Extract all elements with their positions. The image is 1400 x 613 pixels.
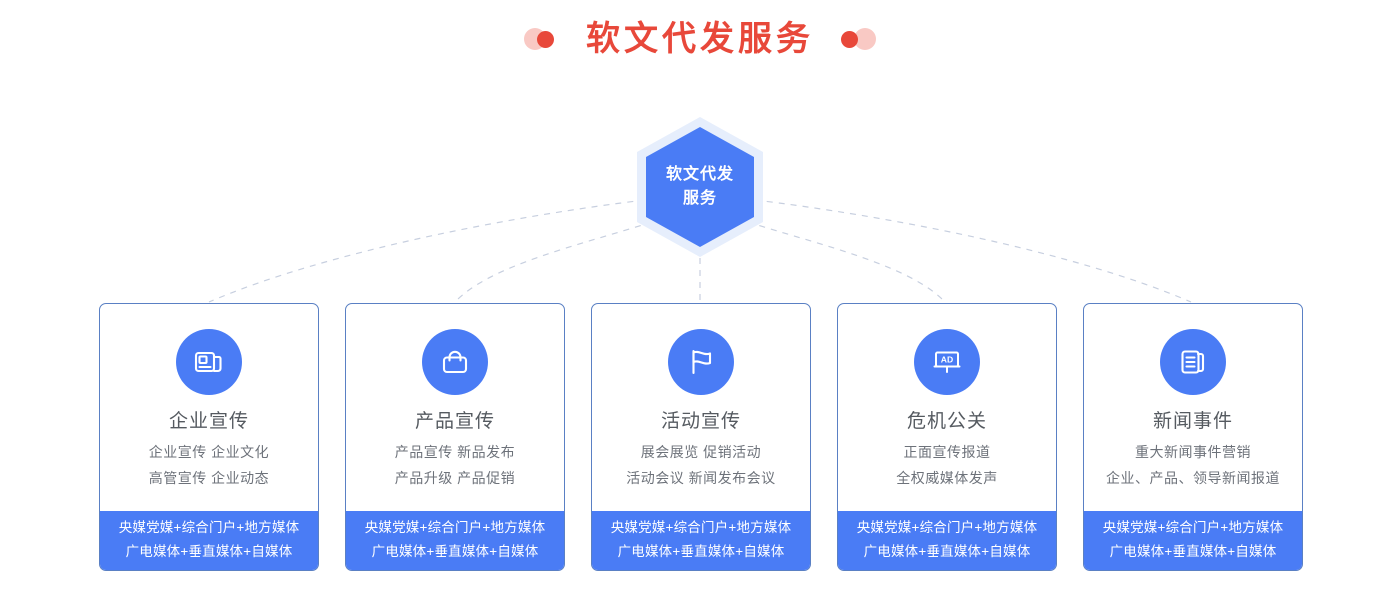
card-footer: 央媒党媒+综合门户+地方媒体 广电媒体+垂直媒体+自媒体 <box>1084 511 1302 570</box>
ad-board-icon: AD <box>914 329 980 395</box>
card-footer: 央媒党媒+综合门户+地方媒体 广电媒体+垂直媒体+自媒体 <box>346 511 564 570</box>
footer-line: 央媒党媒+综合门户+地方媒体 <box>1103 518 1284 537</box>
central-hub-hexagon: 软文代发 服务 <box>637 117 763 257</box>
card-line: 企业宣传 企业文化 <box>149 442 269 462</box>
card-line: 重大新闻事件营销 <box>1135 442 1251 462</box>
card-description: 重大新闻事件营销 企业、产品、领导新闻报道 <box>1106 442 1280 511</box>
card-footer: 央媒党媒+综合门户+地方媒体 广电媒体+垂直媒体+自媒体 <box>838 511 1056 570</box>
card-line: 展会展览 促销活动 <box>641 442 761 462</box>
card-description: 企业宣传 企业文化 高管宣传 企业动态 <box>149 442 269 511</box>
decorative-dot-pair-right-icon <box>840 27 876 51</box>
decorative-dot-pair-left-icon <box>524 27 560 51</box>
card-title: 新闻事件 <box>1153 409 1233 435</box>
footer-line: 广电媒体+垂直媒体+自媒体 <box>618 542 785 561</box>
service-card-pr[interactable]: AD 危机公关 正面宣传报道 全权威媒体发声 央媒党媒+综合门户+地方媒体 广电… <box>837 303 1057 571</box>
card-title: 产品宣传 <box>415 409 495 435</box>
service-card-event[interactable]: 活动宣传 展会展览 促销活动 活动会议 新闻发布会议 央媒党媒+综合门户+地方媒… <box>591 303 811 571</box>
footer-line: 央媒党媒+综合门户+地方媒体 <box>119 518 300 537</box>
service-card-news[interactable]: 新闻事件 重大新闻事件营销 企业、产品、领导新闻报道 央媒党媒+综合门户+地方媒… <box>1083 303 1303 571</box>
card-footer: 央媒党媒+综合门户+地方媒体 广电媒体+垂直媒体+自媒体 <box>592 511 810 570</box>
footer-line: 央媒党媒+综合门户+地方媒体 <box>611 518 792 537</box>
shopping-bag-icon <box>422 329 488 395</box>
svg-text:AD: AD <box>941 354 953 364</box>
service-card-list: 企业宣传 企业宣传 企业文化 高管宣传 企业动态 央媒党媒+综合门户+地方媒体 … <box>99 303 1303 571</box>
service-card-product[interactable]: 产品宣传 产品宣传 新品发布 产品升级 产品促销 央媒党媒+综合门户+地方媒体 … <box>345 303 565 571</box>
connector-to-card-4 <box>748 222 945 302</box>
hub-label-line-2: 服务 <box>683 187 717 211</box>
connector-to-card-2 <box>455 222 652 302</box>
connector-to-card-5 <box>755 200 1191 302</box>
card-line: 高管宣传 企业动态 <box>149 468 269 488</box>
card-title: 企业宣传 <box>169 409 249 435</box>
footer-line: 广电媒体+垂直媒体+自媒体 <box>864 542 1031 561</box>
footer-line: 广电媒体+垂直媒体+自媒体 <box>372 542 539 561</box>
footer-line: 广电媒体+垂直媒体+自媒体 <box>126 542 293 561</box>
card-line: 产品宣传 新品发布 <box>395 442 515 462</box>
footer-line: 央媒党媒+综合门户+地方媒体 <box>857 518 1038 537</box>
card-title: 活动宣传 <box>661 409 741 435</box>
page-title: 软文代发服务 <box>586 17 814 61</box>
service-card-enterprise[interactable]: 企业宣传 企业宣传 企业文化 高管宣传 企业动态 央媒党媒+综合门户+地方媒体 … <box>99 303 319 571</box>
connector-to-card-1 <box>209 200 645 302</box>
footer-line: 央媒党媒+综合门户+地方媒体 <box>365 518 546 537</box>
card-line: 产品升级 产品促销 <box>395 468 515 488</box>
card-line: 全权威媒体发声 <box>896 468 998 488</box>
card-title: 危机公关 <box>907 409 987 435</box>
card-description: 正面宣传报道 全权威媒体发声 <box>896 442 998 511</box>
footer-line: 广电媒体+垂直媒体+自媒体 <box>1110 542 1277 561</box>
card-footer: 央媒党媒+综合门户+地方媒体 广电媒体+垂直媒体+自媒体 <box>100 511 318 570</box>
card-line: 企业、产品、领导新闻报道 <box>1106 468 1280 488</box>
flag-icon <box>668 329 734 395</box>
infographic-page: 软文代发服务 软文代发 服务 <box>0 0 1400 613</box>
card-description: 展会展览 促销活动 活动会议 新闻发布会议 <box>626 442 775 511</box>
hub-label-line-1: 软文代发 <box>666 163 734 187</box>
card-line: 正面宣传报道 <box>904 442 991 462</box>
documents-icon <box>1160 329 1226 395</box>
newspaper-icon <box>176 329 242 395</box>
page-header: 软文代发服务 <box>0 14 1400 64</box>
card-line: 活动会议 新闻发布会议 <box>626 468 775 488</box>
card-description: 产品宣传 新品发布 产品升级 产品促销 <box>395 442 515 511</box>
